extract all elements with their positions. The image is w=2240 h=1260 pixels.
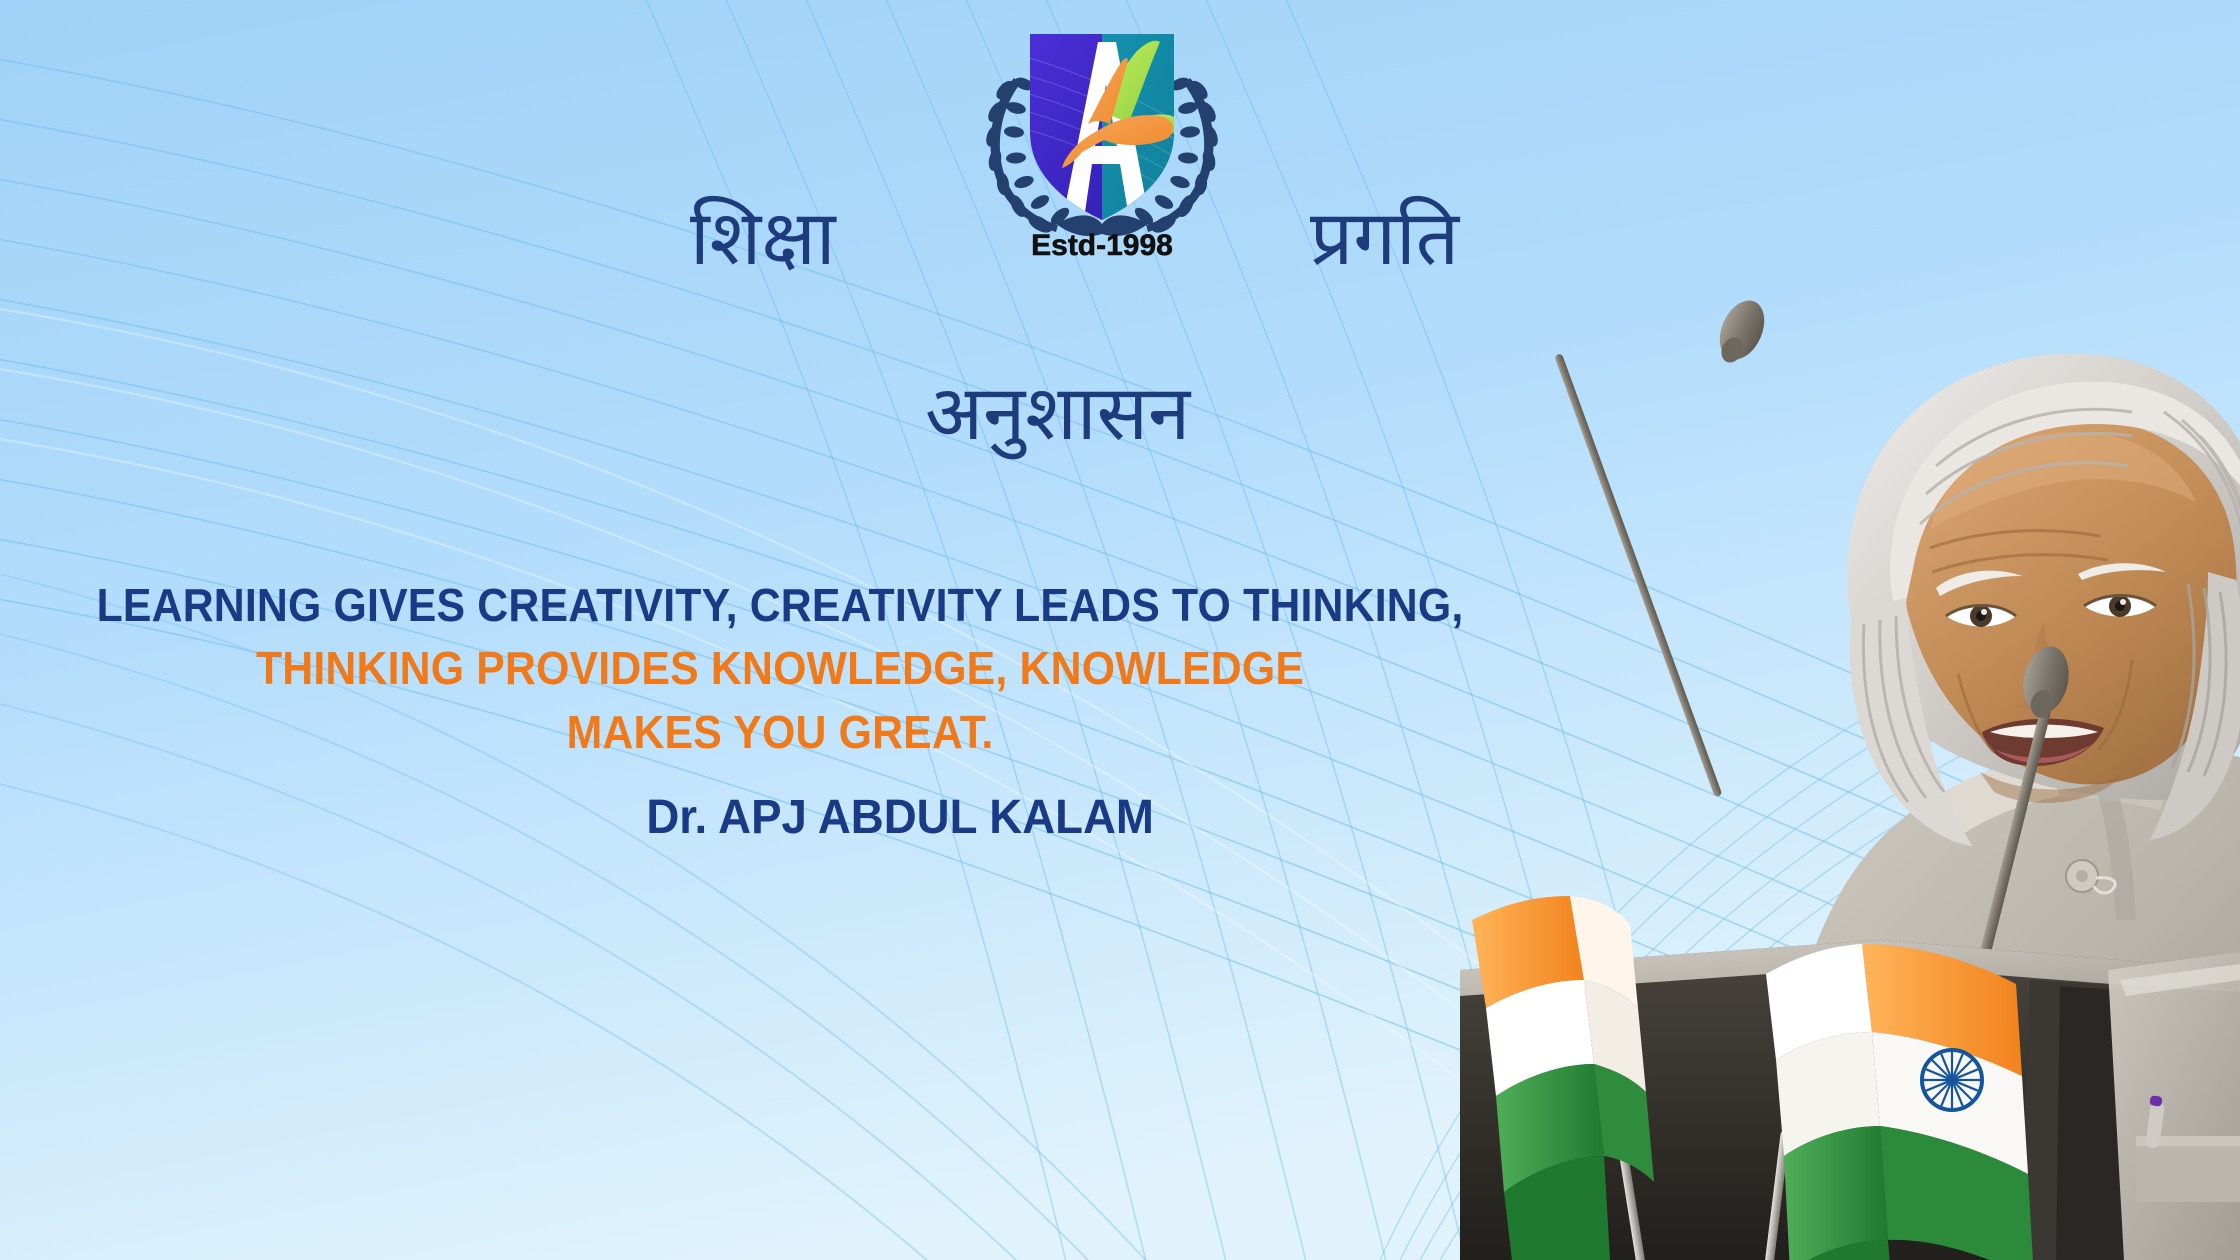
kalam-head [1847, 354, 2240, 846]
quote-block: LEARNING GIVES CREATIVITY, CREATIVITY LE… [0, 574, 1560, 764]
quote-line-2: THINKING PROVIDES KNOWLEDGE, KNOWLEDGE [55, 637, 1506, 700]
banner-root: Estd-1998 शिक्षा प्रगति अनुशासन LEARNING… [0, 0, 2240, 1260]
motto-word-anushasan: अनुशासन [925, 375, 1190, 451]
quote-line-1: LEARNING GIVES CREATIVITY, CREATIVITY LE… [55, 574, 1506, 637]
indian-flag-right [1759, 944, 2034, 1260]
estd-label: Estd-1998 [1031, 229, 1173, 262]
indian-flag-left [1472, 896, 1654, 1260]
quote-author: Dr. APJ ABDUL KALAM [0, 790, 1560, 845]
apj-abdul-kalam-photo [1460, 280, 2240, 1260]
microphone-left [1554, 294, 1773, 798]
quote-author-label: Dr. APJ ABDUL KALAM [646, 790, 1154, 845]
podium [1460, 940, 2240, 1260]
microphone-right [1906, 642, 2075, 1252]
quote-line-3: MAKES YOU GREAT. [55, 701, 1506, 764]
motto-word-pragati: प्रगति [1310, 200, 1459, 276]
school-crest-logo: Estd-1998 [952, 12, 1252, 262]
kalam-body [1760, 716, 2240, 1260]
motto-word-shiksha: शिक्षा [690, 200, 836, 276]
